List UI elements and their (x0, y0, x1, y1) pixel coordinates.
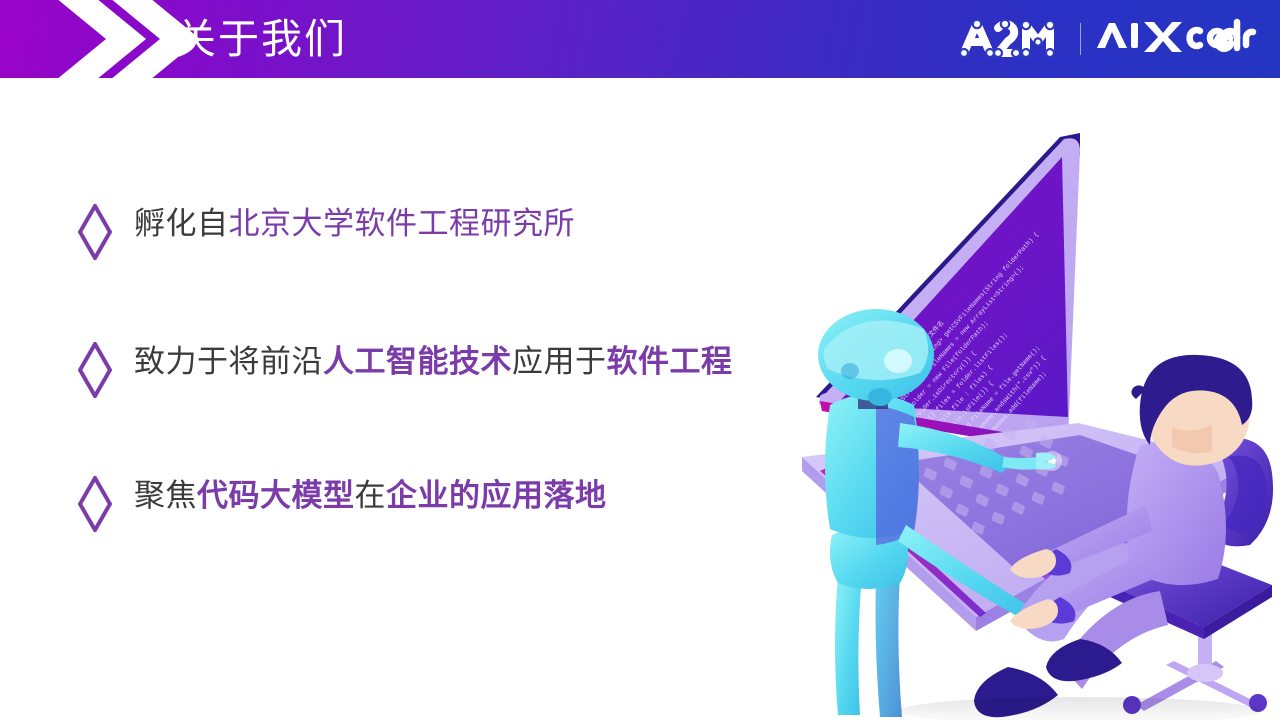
slide-about-us: 关于我们 (0, 0, 1280, 720)
bullet-2-emphasis-3: 软件工程 (607, 344, 733, 379)
bullet-2-plain-0: 致力于将前沿 (134, 344, 323, 379)
bullet-3-plain-0: 聚焦 (134, 478, 197, 513)
bullet-2-plain-2: 应用于 (512, 344, 607, 379)
bullet-1-plain-0: 孵化自 (134, 206, 229, 241)
list-item-label: 致力于将前沿人工智能技术应用于软件工程 (134, 336, 733, 388)
bullet-1-emphasis-1: 北京大学软件工程研究所 (229, 206, 576, 241)
aixcoder-logo (1097, 18, 1262, 61)
logo-divider (1080, 23, 1081, 55)
bullet-3-emphasis-3: 企业的应用落地 (386, 478, 607, 513)
list-item: 聚焦代码大模型在企业的应用落地 (78, 470, 638, 532)
robot-and-developer-illustration: public class TestDemo { // 获取文件夹路径下的所有cs… (780, 105, 1280, 720)
bullet-2-emphasis-1: 人工智能技术 (323, 344, 512, 379)
list-item-label: 孵化自北京大学软件工程研究所 (134, 198, 575, 250)
diamond-outline-icon (78, 476, 112, 532)
page-title: 关于我们 (175, 11, 347, 67)
diamond-outline-icon (78, 204, 112, 260)
bullet-3-plain-2: 在 (355, 478, 387, 513)
list-item: 孵化自北京大学软件工程研究所 (78, 198, 638, 260)
brand-logos (958, 14, 1262, 64)
list-item-label: 聚焦代码大模型在企业的应用落地 (134, 470, 607, 522)
a2m-logo (958, 15, 1066, 64)
list-item: 致力于将前沿人工智能技术应用于软件工程 (78, 336, 778, 398)
diamond-outline-icon (78, 342, 112, 398)
bullet-3-emphasis-1: 代码大模型 (197, 478, 355, 513)
slide-header-bar: 关于我们 (0, 0, 1280, 78)
